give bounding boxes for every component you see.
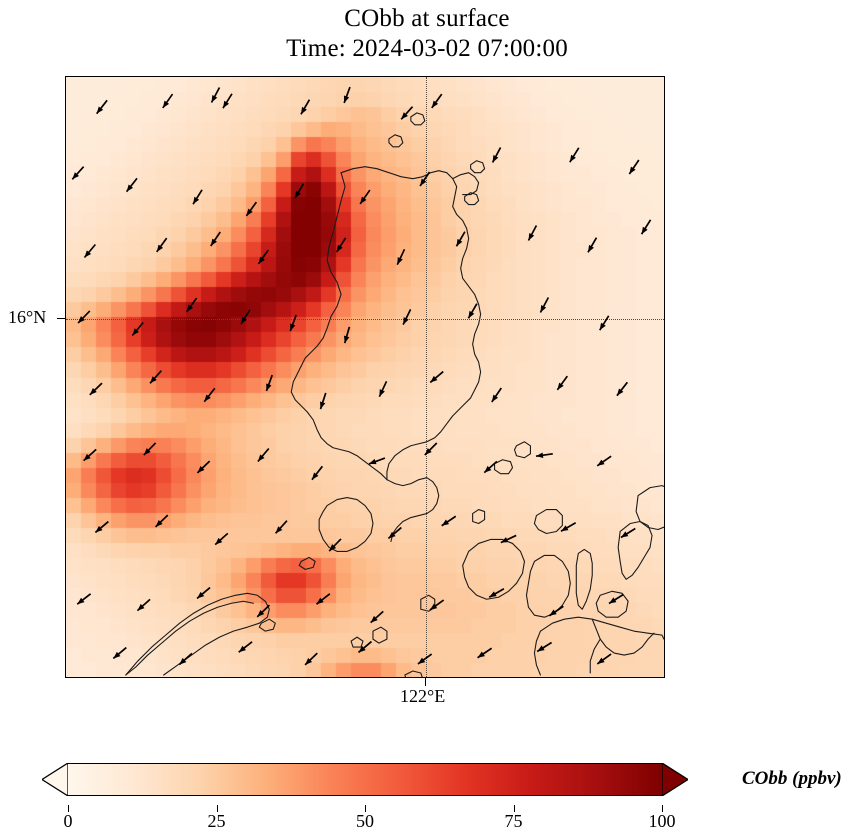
colorbar-tick-label-100: 100	[649, 811, 676, 832]
colorbar-tick-label-75: 75	[505, 811, 523, 832]
wind-arrow	[113, 648, 126, 659]
wind-arrow	[570, 148, 579, 162]
wind-arrow	[223, 94, 232, 108]
wind-arrow	[492, 388, 501, 402]
wind-arrow	[163, 94, 173, 108]
wind-arrow	[97, 100, 107, 113]
wind-arrow	[127, 178, 137, 191]
wind-arrow	[360, 190, 370, 204]
colorbar-body: 0255075100	[68, 763, 662, 796]
wind-arrow	[215, 533, 228, 544]
colorbar-extend-high-icon	[662, 763, 688, 796]
wind-arrow	[468, 304, 476, 319]
wind-arrow	[493, 148, 501, 163]
wind-arrow	[501, 535, 516, 542]
wind-arrow	[137, 599, 150, 610]
wind-arrow	[442, 516, 456, 525]
wind-arrow	[621, 529, 635, 538]
wind-arrow	[597, 654, 611, 664]
wind-arrow	[540, 298, 548, 313]
wind-arrow	[609, 595, 623, 604]
wind-arrow	[295, 184, 303, 199]
wind-arrow	[536, 452, 553, 458]
wind-arrow	[561, 523, 576, 531]
wind-arrow	[84, 245, 95, 258]
axis-label-latitude: 16°N	[8, 307, 46, 328]
wind-arrow	[642, 220, 651, 234]
title-line-2: Time: 2024-03-02 07:00:00	[0, 34, 854, 64]
tick-mark-lon-122	[425, 678, 426, 686]
wind-arrow	[359, 642, 372, 653]
wind-arrow	[588, 238, 596, 253]
wind-arrow	[337, 238, 346, 252]
wind-arrow	[301, 100, 309, 115]
colorbar-tick-label-25: 25	[208, 811, 226, 832]
wind-arrow	[316, 594, 329, 604]
wind-arrow	[179, 653, 192, 664]
wind-arrow	[484, 461, 497, 472]
colorbar[interactable]: 0255075100 CObb (ppbv)	[0, 754, 854, 836]
wind-arrow	[239, 642, 252, 652]
axis-label-longitude: 122°E	[400, 686, 445, 707]
wind-arrow	[132, 323, 143, 336]
wind-arrow	[456, 232, 464, 247]
wind-arrow	[257, 605, 269, 617]
wind-arrow	[432, 94, 442, 108]
wind-arrow	[95, 522, 108, 533]
wind-arrow	[320, 393, 326, 409]
wind-arrow	[266, 375, 272, 391]
wind-arrow	[418, 654, 432, 664]
wind-arrow	[204, 388, 214, 401]
wind-arrow	[90, 383, 102, 395]
wind-arrow	[371, 611, 384, 622]
wind-vector-layer	[66, 77, 664, 677]
wind-arrow	[597, 456, 611, 466]
wind-arrow	[528, 226, 536, 241]
wind-arrow	[156, 515, 168, 527]
wind-arrow	[312, 466, 322, 479]
colorbar-tick-label-0: 0	[64, 811, 73, 832]
wind-arrow	[193, 190, 202, 204]
wind-arrow	[425, 443, 437, 455]
wind-arrow	[290, 315, 296, 331]
wind-arrow	[329, 539, 341, 551]
wind-arrow	[401, 107, 412, 120]
title-line-1: CObb at surface	[0, 4, 854, 34]
wind-arrow	[84, 449, 97, 460]
wind-arrow	[276, 521, 287, 534]
colorbar-extend-low-icon	[42, 763, 68, 796]
wind-arrow	[72, 167, 83, 180]
wind-arrow	[258, 250, 268, 264]
colorbar-tick-label-50: 50	[356, 811, 374, 832]
wind-arrow	[150, 371, 161, 384]
wind-arrow	[77, 594, 90, 604]
wind-arrow	[187, 298, 197, 312]
tick-mark-lat-16	[57, 318, 65, 319]
colorbar-title: CObb (ppbv)	[742, 768, 842, 790]
wind-arrow	[388, 528, 401, 539]
map-plot-area[interactable]	[65, 76, 665, 678]
wind-arrow	[305, 653, 317, 665]
wind-arrow	[430, 372, 443, 383]
wind-arrow	[549, 606, 563, 615]
wind-arrow	[397, 249, 404, 264]
wind-arrow	[212, 88, 220, 103]
wind-arrow	[241, 310, 250, 324]
wind-arrow	[344, 327, 349, 343]
wind-arrow	[557, 376, 567, 390]
figure-title: CObb at surface Time: 2024-03-02 07:00:0…	[0, 4, 854, 63]
wind-arrow	[197, 461, 209, 473]
wind-arrow	[157, 238, 167, 252]
wind-arrow	[197, 588, 210, 599]
wind-arrow	[537, 643, 551, 652]
wind-arrow	[403, 309, 410, 324]
wind-arrow	[430, 600, 444, 610]
wind-arrow	[629, 160, 638, 174]
wind-arrow	[369, 458, 385, 464]
wind-arrow	[144, 443, 156, 455]
wind-arrow	[600, 316, 609, 330]
wind-arrow	[211, 232, 220, 246]
wind-arrow	[478, 648, 492, 657]
wind-arrow	[379, 381, 386, 396]
wind-arrow	[246, 202, 256, 216]
wind-arrow	[420, 172, 429, 186]
wind-arrow	[617, 382, 627, 395]
colorbar-gradient	[68, 763, 662, 796]
wind-arrow	[344, 87, 350, 103]
wind-arrow	[489, 589, 504, 597]
wind-arrow	[78, 311, 90, 323]
wind-arrow	[258, 449, 269, 462]
